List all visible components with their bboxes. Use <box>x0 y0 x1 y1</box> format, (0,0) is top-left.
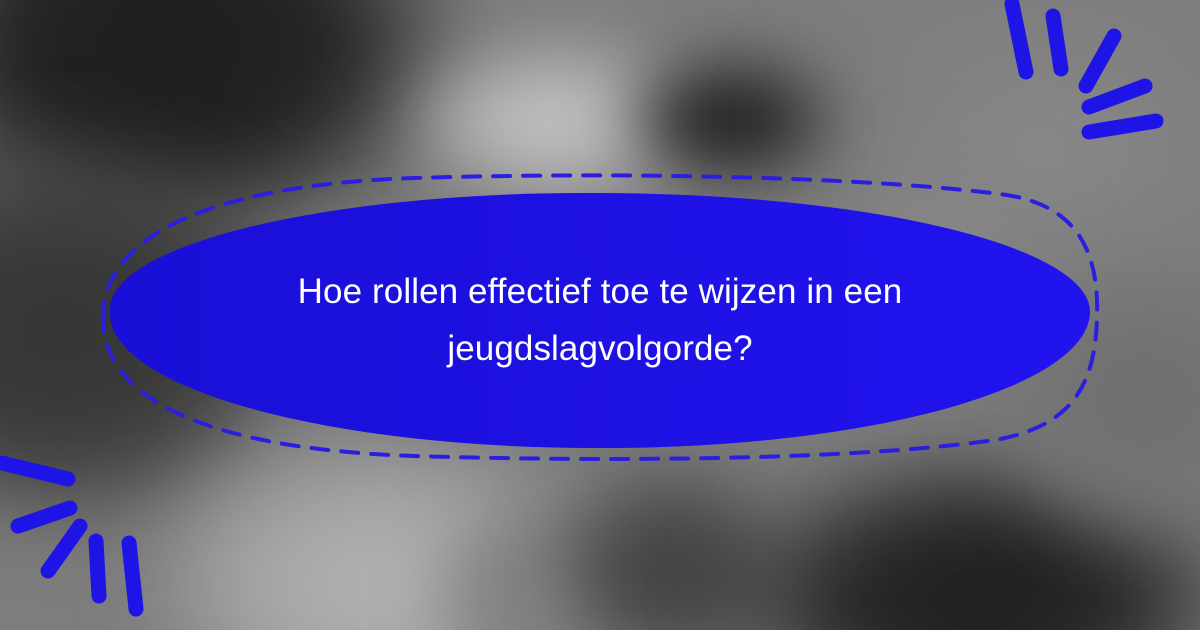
social-card-canvas: Hoe rollen effectief toe te wijzen in ee… <box>0 0 1200 630</box>
headline-callout: Hoe rollen effectief toe te wijzen in ee… <box>95 168 1105 458</box>
sparkle-stroke-5 <box>1089 121 1156 132</box>
sparkle-stroke-3 <box>1086 36 1114 86</box>
background-shadow-head <box>615 55 845 185</box>
sparkle-stroke-5 <box>129 543 136 609</box>
sparkle-stroke-1 <box>1012 4 1026 72</box>
sparkle-stroke-3 <box>48 526 80 571</box>
page-title: Hoe rollen effectief toe te wijzen in ee… <box>250 264 950 377</box>
sparkle-stroke-2 <box>18 508 70 526</box>
sparkle-stroke-1 <box>2 463 68 479</box>
sparkle-burst-bottom-left-icon <box>0 450 210 630</box>
callout-background-shape: Hoe rollen effectief toe te wijzen in ee… <box>110 193 1090 448</box>
sparkle-stroke-2 <box>1053 16 1061 69</box>
sparkle-stroke-4 <box>1089 86 1145 107</box>
sparkle-burst-top-right-icon <box>990 0 1200 180</box>
sparkle-stroke-4 <box>96 541 99 596</box>
